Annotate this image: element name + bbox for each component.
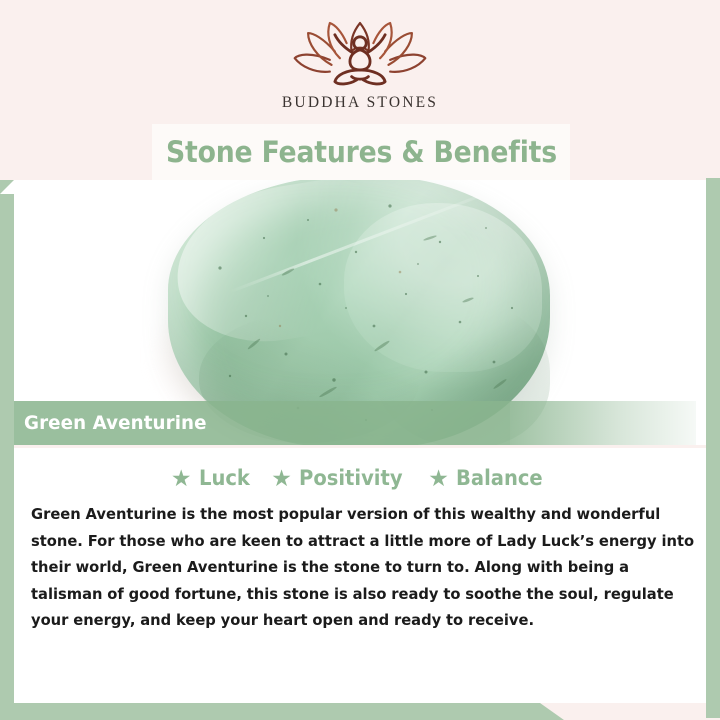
product-image-region: Green Aventurine <box>0 178 720 448</box>
frame-rail-right <box>706 178 720 718</box>
benefit-label: Balance <box>456 466 543 490</box>
lotus-meditation-icon <box>275 18 445 90</box>
section-title-banner: Stone Features & Benefits <box>152 124 570 180</box>
frame-rail-bottom-taper <box>540 703 564 720</box>
brand-logo: BUDDHA STONES <box>0 18 720 112</box>
frame-rail-bottom <box>0 703 540 720</box>
frame-rail-left <box>0 180 14 705</box>
brand-name: BUDDHA STONES <box>282 94 438 112</box>
star-icon: ★ <box>428 467 449 490</box>
benefits-list: ★ Luck ★ Positivity ★ Balance <box>14 466 706 490</box>
promo-card: BUDDHA STONES Stone Features & Benefits <box>0 0 720 720</box>
product-label: Green Aventurine <box>24 412 207 434</box>
description-text: Green Aventurine is the most popular ver… <box>31 501 700 634</box>
star-icon: ★ <box>271 467 292 490</box>
page-title: Stone Features & Benefits <box>166 135 557 169</box>
star-icon: ★ <box>171 467 192 490</box>
benefit-item-positivity: ★ Positivity <box>271 466 410 490</box>
product-label-band-fade <box>510 401 696 445</box>
benefit-label: Positivity <box>299 466 403 490</box>
benefit-item-luck: ★ Luck <box>171 466 253 490</box>
benefit-item-balance: ★ Balance <box>428 466 549 490</box>
description-card: ★ Luck ★ Positivity ★ Balance Green Aven… <box>14 448 706 703</box>
benefit-label: Luck <box>199 466 250 490</box>
product-label-band: Green Aventurine <box>0 401 510 445</box>
